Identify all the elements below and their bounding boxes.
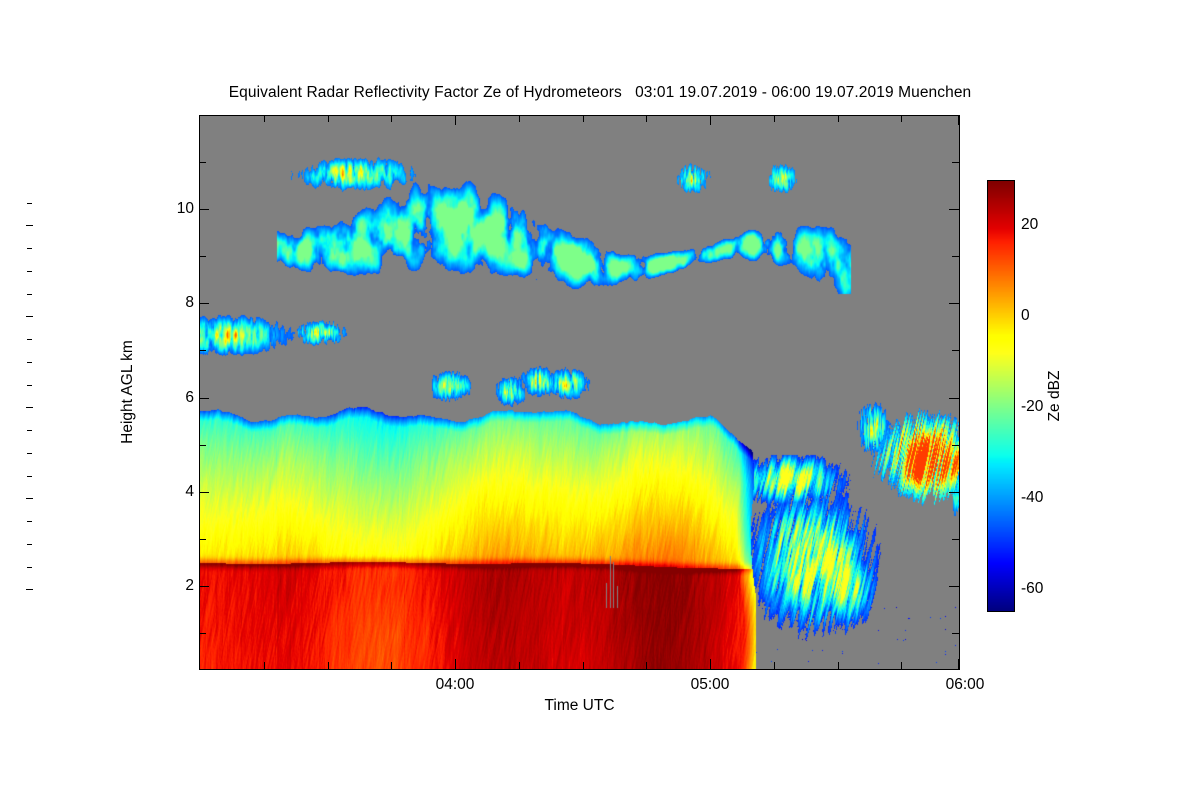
colorbar-tick xyxy=(26,407,33,408)
x-axis-title: Time UTC xyxy=(199,697,960,715)
y-tick-minor-right xyxy=(952,539,959,540)
colorbar-tick-minor xyxy=(27,521,32,522)
colorbar-tick-minor xyxy=(27,567,32,568)
y-tick-major xyxy=(199,586,209,587)
y-tick-major-right xyxy=(949,398,959,399)
x-tick-minor xyxy=(519,662,520,669)
y-tick-minor xyxy=(199,633,206,634)
x-tick-minor xyxy=(774,662,775,669)
heatmap-canvas xyxy=(200,116,959,669)
y-tick-major-right xyxy=(949,492,959,493)
colorbar-tick-minor xyxy=(27,203,32,204)
radar-heatmap-plot xyxy=(199,115,960,670)
x-tick-major-top xyxy=(710,115,711,125)
y-tick-major-right xyxy=(949,209,959,210)
y-tick-minor-right xyxy=(952,350,959,351)
colorbar xyxy=(987,180,1015,612)
colorbar-tick-label: -60 xyxy=(1021,580,1043,598)
y-tick-major xyxy=(199,209,209,210)
x-tick-minor xyxy=(391,662,392,669)
y-tick-major xyxy=(199,303,209,304)
y-tick-minor xyxy=(199,256,206,257)
y-tick-major-right xyxy=(949,586,959,587)
page-title: Equivalent Radar Reflectivity Factor Ze … xyxy=(0,84,1200,102)
x-tick-label: 05:00 xyxy=(665,676,755,694)
x-tick-minor-top xyxy=(264,115,265,122)
y-tick-label: 10 xyxy=(134,200,194,218)
x-tick-minor-top xyxy=(901,115,902,122)
x-tick-minor xyxy=(901,662,902,669)
colorbar-tick-minor xyxy=(27,430,32,431)
y-tick-minor-right xyxy=(952,633,959,634)
y-tick-minor xyxy=(199,162,206,163)
x-tick-major xyxy=(710,659,711,669)
colorbar-tick-minor xyxy=(27,271,32,272)
y-tick-label: 2 xyxy=(134,577,194,595)
y-tick-major-right xyxy=(949,303,959,304)
x-tick-minor xyxy=(838,662,839,669)
x-tick-label: 06:00 xyxy=(920,676,1010,694)
x-tick-minor xyxy=(328,662,329,669)
y-tick-minor xyxy=(199,445,206,446)
colorbar-tick-label: -40 xyxy=(1021,489,1043,507)
y-tick-minor-right xyxy=(952,162,959,163)
y-tick-minor-right xyxy=(952,445,959,446)
colorbar-tick-label: 20 xyxy=(1021,216,1038,234)
colorbar-tick-minor xyxy=(27,385,32,386)
colorbar-tick-minor xyxy=(27,544,32,545)
y-tick-major xyxy=(199,492,209,493)
colorbar-tick xyxy=(26,316,33,317)
x-tick-label: 04:00 xyxy=(410,676,500,694)
colorbar-tick-minor xyxy=(27,362,32,363)
colorbar-tick xyxy=(26,498,33,499)
y-tick-minor xyxy=(199,539,206,540)
x-tick-major-top xyxy=(958,115,959,125)
x-tick-minor xyxy=(646,662,647,669)
x-tick-minor xyxy=(264,662,265,669)
x-tick-minor-top xyxy=(391,115,392,122)
colorbar-tick-minor xyxy=(27,339,32,340)
colorbar-tick-minor xyxy=(27,294,32,295)
y-tick-label: 8 xyxy=(134,294,194,312)
x-tick-minor-top xyxy=(583,115,584,122)
x-tick-major-top xyxy=(455,115,456,125)
colorbar-title: Ze dBZ xyxy=(1046,371,1064,422)
y-tick-label: 4 xyxy=(134,483,194,501)
colorbar-gradient xyxy=(988,181,1014,611)
y-tick-minor xyxy=(199,350,206,351)
x-tick-minor xyxy=(583,662,584,669)
x-tick-minor-top xyxy=(774,115,775,122)
colorbar-tick xyxy=(26,225,33,226)
colorbar-tick xyxy=(26,589,33,590)
y-tick-minor-right xyxy=(952,256,959,257)
colorbar-tick-minor xyxy=(27,453,32,454)
x-tick-minor-top xyxy=(519,115,520,122)
colorbar-tick-minor xyxy=(27,248,32,249)
x-tick-major xyxy=(958,659,959,669)
x-tick-major xyxy=(455,659,456,669)
x-tick-minor-top xyxy=(328,115,329,122)
x-tick-minor-top xyxy=(646,115,647,122)
y-tick-major xyxy=(199,398,209,399)
colorbar-tick-minor xyxy=(27,476,32,477)
colorbar-tick-label: -20 xyxy=(1021,398,1043,416)
colorbar-tick-label: 0 xyxy=(1021,307,1030,325)
y-tick-label: 6 xyxy=(134,389,194,407)
x-tick-minor-top xyxy=(838,115,839,122)
